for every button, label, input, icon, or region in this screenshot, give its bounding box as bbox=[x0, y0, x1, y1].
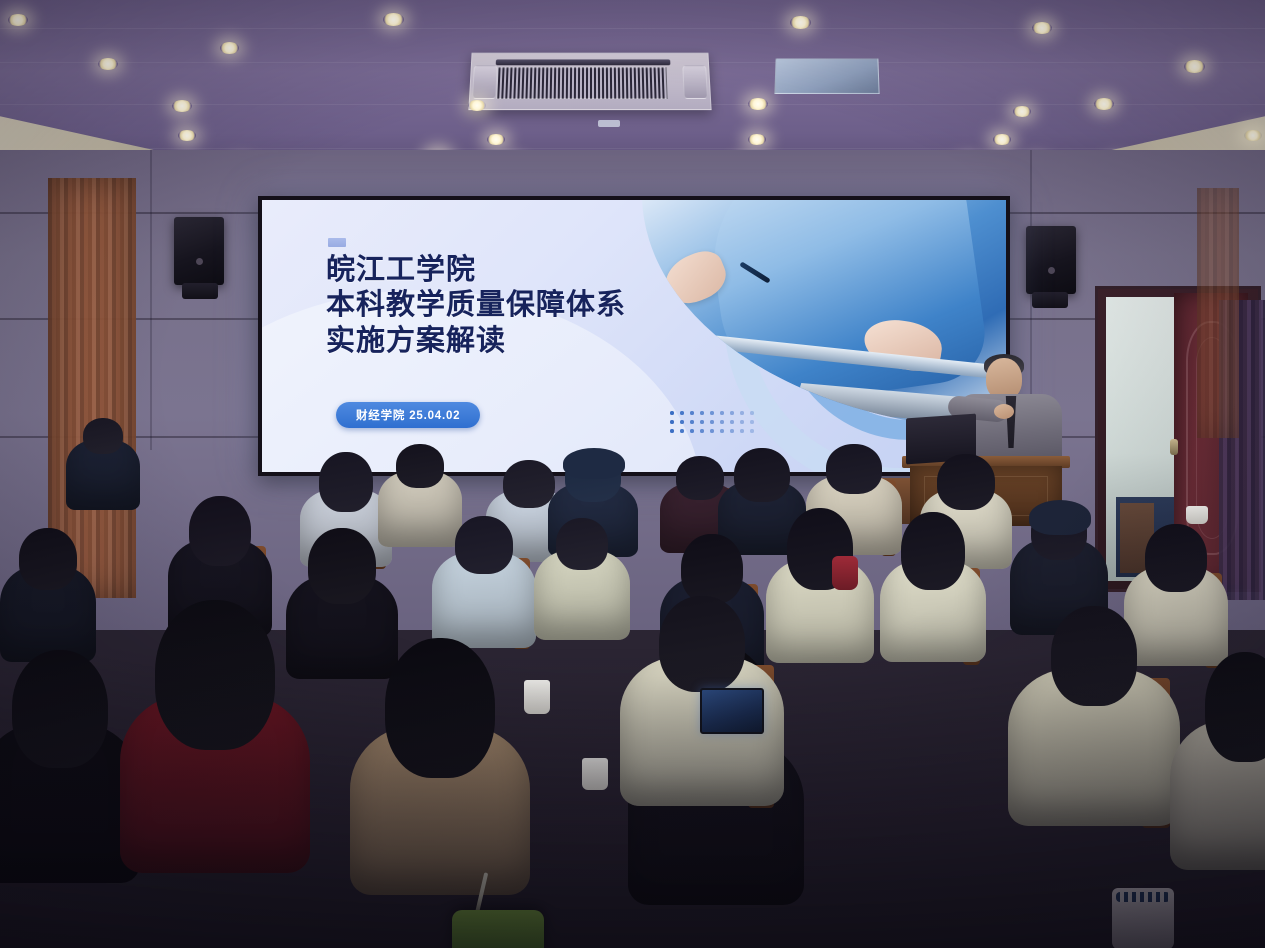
audience-member bbox=[1008, 606, 1180, 864]
slide-decor-mark bbox=[328, 238, 346, 247]
green-drink-cup bbox=[452, 910, 544, 948]
downlight bbox=[178, 130, 196, 141]
audience-hair bbox=[676, 456, 724, 500]
ac-vane-left bbox=[472, 65, 498, 99]
audience-hair bbox=[826, 444, 882, 494]
downlight bbox=[993, 134, 1011, 145]
audience-hair bbox=[659, 596, 745, 692]
white-cup-mid bbox=[582, 758, 608, 790]
ac-grille-icon bbox=[496, 67, 667, 99]
downlight bbox=[1094, 98, 1114, 110]
wall-speaker-right bbox=[1026, 226, 1076, 294]
white-cup-left bbox=[524, 680, 550, 714]
audience-hair bbox=[937, 454, 995, 510]
audience bbox=[0, 400, 1265, 948]
audience-member bbox=[350, 638, 530, 948]
downlight bbox=[383, 13, 404, 26]
tablet-screen[interactable] bbox=[700, 688, 764, 734]
audience-hair bbox=[1205, 652, 1265, 762]
speaker-cone-icon bbox=[196, 258, 203, 265]
thermos-band bbox=[1116, 892, 1170, 902]
ceiling-seam bbox=[0, 28, 1265, 29]
downlight bbox=[8, 14, 28, 26]
audience-cap bbox=[563, 448, 625, 479]
audience-member bbox=[534, 518, 630, 660]
downlight bbox=[1184, 60, 1205, 73]
white-cup-right bbox=[1186, 506, 1208, 524]
ceiling-air-conditioner bbox=[468, 53, 711, 110]
audience-cap bbox=[1029, 500, 1091, 535]
red-thermos bbox=[832, 556, 858, 590]
downlight bbox=[468, 100, 486, 111]
downlight bbox=[748, 98, 768, 110]
audience-hair bbox=[1145, 524, 1207, 592]
lecture-hall-photo: 皖江工学院 本科教学质量保障体系 实施方案解读 财经学院 25.04.02 bbox=[0, 0, 1265, 948]
downlight bbox=[220, 42, 239, 54]
audience-hair bbox=[319, 452, 373, 512]
audience-hair bbox=[734, 448, 790, 502]
audience-member bbox=[1170, 652, 1265, 912]
ceiling-seam bbox=[0, 148, 1265, 149]
slide-title: 皖江工学院 本科教学质量保障体系 实施方案解读 bbox=[326, 252, 626, 358]
slide-title-line-3: 实施方案解读 bbox=[326, 323, 626, 358]
audience-hair bbox=[19, 528, 77, 590]
audience-member bbox=[66, 418, 140, 524]
wall-speaker-left bbox=[174, 217, 224, 285]
audience-hair bbox=[556, 518, 608, 570]
audience-hair bbox=[308, 528, 376, 604]
audience-hair bbox=[455, 516, 513, 574]
downlight bbox=[1013, 106, 1031, 117]
audience-hair bbox=[83, 418, 123, 454]
speaker-cone-icon bbox=[1048, 267, 1055, 274]
audience-member bbox=[120, 600, 310, 930]
slide-title-line-1: 皖江工学院 bbox=[326, 252, 626, 287]
ac-vane-right bbox=[682, 65, 708, 99]
downlight bbox=[487, 134, 505, 145]
downlight bbox=[1244, 130, 1262, 141]
downlight bbox=[172, 100, 192, 112]
audience-member bbox=[880, 512, 986, 692]
downlight bbox=[1032, 22, 1052, 34]
audience-hair bbox=[385, 638, 495, 778]
audience-hair bbox=[1051, 606, 1137, 706]
ceiling-sensor bbox=[598, 120, 620, 127]
speaker-bracket-left bbox=[182, 283, 218, 299]
audience-hair bbox=[189, 496, 251, 566]
audience-hair bbox=[155, 600, 275, 750]
ac-bar bbox=[496, 59, 671, 65]
audience-hair bbox=[12, 650, 108, 768]
audience-hair bbox=[681, 534, 743, 604]
downlight bbox=[790, 16, 811, 29]
audience-hair bbox=[901, 512, 965, 590]
ceiling-air-vent bbox=[774, 58, 879, 93]
audience-hair bbox=[396, 444, 444, 488]
downlight bbox=[748, 134, 766, 145]
speaker-bracket-right bbox=[1032, 292, 1068, 308]
slide-title-line-2: 本科教学质量保障体系 bbox=[326, 287, 626, 322]
downlight bbox=[98, 58, 118, 70]
audience-member bbox=[0, 650, 140, 928]
